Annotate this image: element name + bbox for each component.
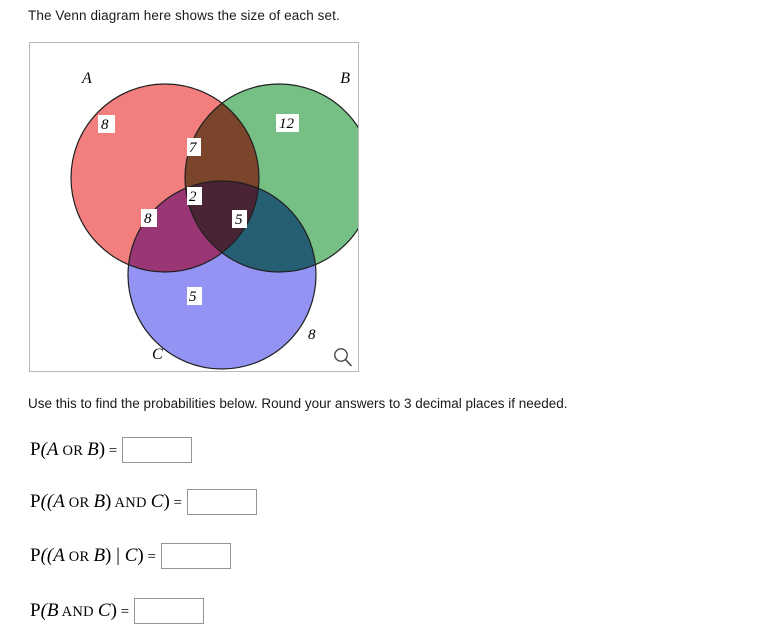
question-row-3: P((A OR B) | C) = <box>30 541 231 571</box>
venn-region-b-only: 12 <box>276 114 299 132</box>
answer-input-3[interactable] <box>161 543 231 569</box>
venn-value-b-and-c: 5 <box>235 212 243 228</box>
worksheet-page: The Venn diagram here shows the size of … <box>0 0 782 640</box>
venn-region-c-only: 5 <box>187 287 202 305</box>
venn-value-b-only: 12 <box>279 116 295 132</box>
instructions-text: Use this to find the probabilities below… <box>28 396 568 411</box>
venn-region-a-only: 8 <box>98 115 115 133</box>
magnifier-icon[interactable] <box>332 346 354 368</box>
question-2-label: P((A OR B) AND C) = <box>30 491 187 513</box>
venn-value-a-b-c: 2 <box>189 189 197 205</box>
intro-text: The Venn diagram here shows the size of … <box>28 8 340 23</box>
venn-value-a-only: 8 <box>101 117 109 133</box>
question-1-label: P(A OR B) = <box>30 439 122 461</box>
venn-region-b-and-c: 5 <box>232 210 247 228</box>
answer-input-2[interactable] <box>187 489 257 515</box>
venn-value-a-and-c: 8 <box>144 211 152 227</box>
question-4-label: P(B AND C) = <box>30 600 134 622</box>
venn-label-a: A <box>81 70 92 87</box>
venn-value-c-only: 5 <box>189 289 197 305</box>
question-3-label: P((A OR B) | C) = <box>30 545 161 567</box>
venn-diagram: A B C 8 12 7 2 8 <box>30 43 358 371</box>
question-row-2: P((A OR B) AND C) = <box>30 487 257 517</box>
venn-label-b: B <box>340 70 350 87</box>
venn-value-outside: 8 <box>308 327 316 343</box>
venn-region-a-b-c: 2 <box>187 187 202 205</box>
venn-region-a-and-c: 8 <box>141 209 157 227</box>
question-row-1: P(A OR B) = <box>30 435 192 465</box>
answer-input-1[interactable] <box>122 437 192 463</box>
venn-diagram-panel: A B C 8 12 7 2 8 <box>29 42 359 372</box>
question-row-4: P(B AND C) = <box>30 596 204 626</box>
venn-label-c: C <box>152 346 163 363</box>
venn-region-a-and-b: 7 <box>187 138 201 156</box>
answer-input-4[interactable] <box>134 598 204 624</box>
